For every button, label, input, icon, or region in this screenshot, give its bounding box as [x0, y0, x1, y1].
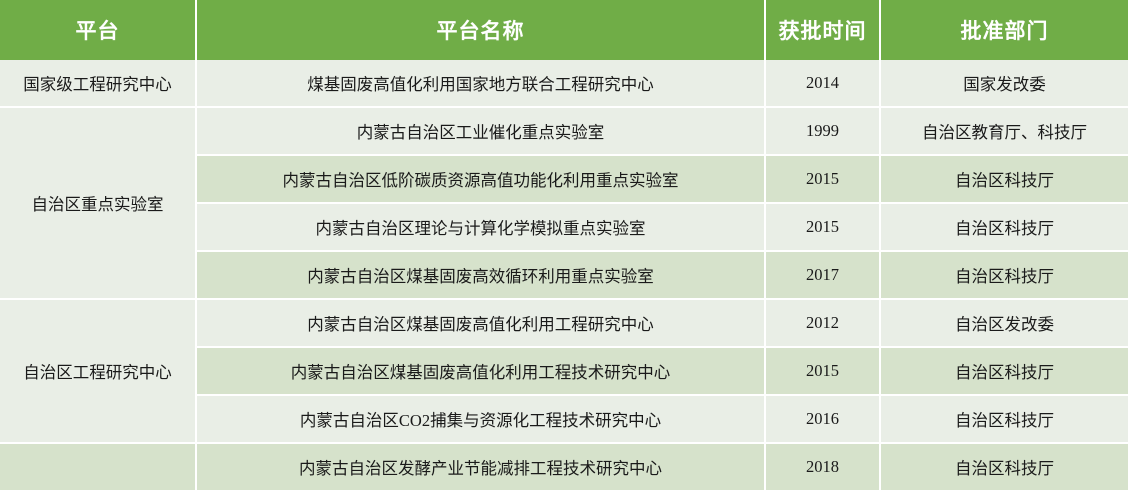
table-header: 平台 平台名称 获批时间 批准部门 — [0, 0, 1128, 60]
table-row: 自治区重点实验室 内蒙古自治区工业催化重点实验室 1999 自治区教育厅、科技厅 — [0, 107, 1128, 155]
cell-approval-dept: 自治区科技厅 — [880, 395, 1128, 443]
cell-approval-dept: 自治区科技厅 — [880, 443, 1128, 491]
group-label-regional-engineering-center: 自治区工程研究中心 — [0, 299, 196, 443]
table-row: 自治区工程研究中心 内蒙古自治区煤基固废高值化利用工程研究中心 2012 自治区… — [0, 299, 1128, 347]
cell-platform-name: 内蒙古自治区煤基固废高值化利用工程研究中心 — [196, 299, 765, 347]
cell-approval-dept: 自治区科技厅 — [880, 251, 1128, 299]
cell-approval-dept: 自治区科技厅 — [880, 347, 1128, 395]
cell-platform-name: 内蒙古自治区煤基固废高效循环利用重点实验室 — [196, 251, 765, 299]
cell-approval-dept: 自治区发改委 — [880, 299, 1128, 347]
cell-approval-year: 2015 — [765, 347, 880, 395]
column-header-platform: 平台 — [0, 0, 196, 60]
cell-platform-name: 内蒙古自治区CO2捕集与资源化工程技术研究中心 — [196, 395, 765, 443]
cell-platform-name: 内蒙古自治区煤基固废高值化利用工程技术研究中心 — [196, 347, 765, 395]
cell-approval-year: 1999 — [765, 107, 880, 155]
column-header-platform-name: 平台名称 — [196, 0, 765, 60]
empty-corner-cell — [0, 443, 196, 491]
cell-approval-year: 2017 — [765, 251, 880, 299]
cell-approval-year: 2014 — [765, 60, 880, 107]
platform-table: 平台 平台名称 获批时间 批准部门 国家级工程研究中心 煤基固废高值化利用国家地… — [0, 0, 1128, 492]
table-body: 国家级工程研究中心 煤基固废高值化利用国家地方联合工程研究中心 2014 国家发… — [0, 60, 1128, 491]
column-header-approval-dept: 批准部门 — [880, 0, 1128, 60]
cell-approval-year: 2015 — [765, 203, 880, 251]
cell-platform-name: 内蒙古自治区理论与计算化学模拟重点实验室 — [196, 203, 765, 251]
header-row: 平台 平台名称 获批时间 批准部门 — [0, 0, 1128, 60]
cell-approval-year: 2015 — [765, 155, 880, 203]
table-row: 国家级工程研究中心 煤基固废高值化利用国家地方联合工程研究中心 2014 国家发… — [0, 60, 1128, 107]
cell-platform-name: 内蒙古自治区低阶碳质资源高值功能化利用重点实验室 — [196, 155, 765, 203]
group-label-national-engineering-center: 国家级工程研究中心 — [0, 60, 196, 107]
cell-platform-name: 煤基固废高值化利用国家地方联合工程研究中心 — [196, 60, 765, 107]
cell-approval-year: 2018 — [765, 443, 880, 491]
cell-approval-dept: 自治区科技厅 — [880, 203, 1128, 251]
group-label-regional-key-laboratory: 自治区重点实验室 — [0, 107, 196, 299]
cell-platform-name: 内蒙古自治区发酵产业节能减排工程技术研究中心 — [196, 443, 765, 491]
table-row: 内蒙古自治区发酵产业节能减排工程技术研究中心 2018 自治区科技厅 — [0, 443, 1128, 491]
cell-approval-year: 2012 — [765, 299, 880, 347]
cell-approval-dept: 国家发改委 — [880, 60, 1128, 107]
cell-approval-dept: 自治区教育厅、科技厅 — [880, 107, 1128, 155]
cell-approval-dept: 自治区科技厅 — [880, 155, 1128, 203]
column-header-approval-year: 获批时间 — [765, 0, 880, 60]
cell-platform-name: 内蒙古自治区工业催化重点实验室 — [196, 107, 765, 155]
cell-approval-year: 2016 — [765, 395, 880, 443]
